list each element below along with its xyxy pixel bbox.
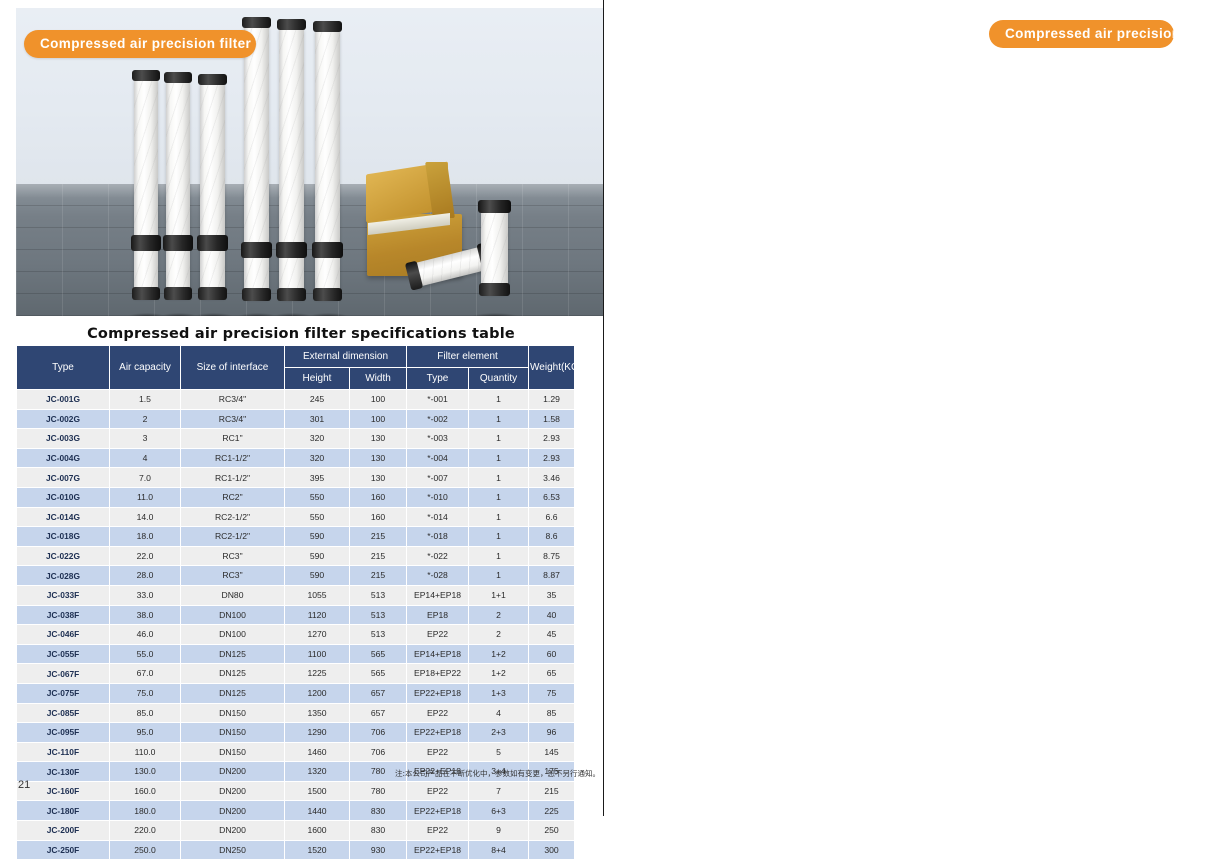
table-row: JC-075F75.0DN1251200657EP22+EP181+375 bbox=[17, 683, 575, 703]
table-cell: 160 bbox=[350, 487, 407, 507]
table-cell: 9 bbox=[469, 821, 529, 841]
table-cell: 145 bbox=[529, 742, 575, 762]
table-cell: 1270 bbox=[285, 625, 350, 645]
table-row: JC-003G3RC1"320130*-00312.93 bbox=[17, 429, 575, 449]
table-cell: *-002 bbox=[407, 409, 469, 429]
filter-cartridge bbox=[200, 83, 225, 297]
table-cell: EP22 bbox=[407, 625, 469, 645]
table-cell: DN100 bbox=[181, 625, 285, 645]
table-cell: EP22 bbox=[407, 821, 469, 841]
filter-cartridge bbox=[166, 81, 190, 297]
table-cell: 1100 bbox=[285, 644, 350, 664]
table-cell: EP22 bbox=[407, 703, 469, 723]
table-cell: 3 bbox=[110, 429, 181, 449]
table-row: JC-180F180.0DN2001440830EP22+EP186+3225 bbox=[17, 801, 575, 821]
table-cell: EP14+EP18 bbox=[407, 585, 469, 605]
specifications-table-body: JC-001G1.5RC3/4"245100*-00111.29JC-002G2… bbox=[17, 390, 575, 860]
table-cell: 85.0 bbox=[110, 703, 181, 723]
table-cell: 830 bbox=[350, 821, 407, 841]
table-row: JC-033F33.0DN801055513EP14+EP181+135 bbox=[17, 585, 575, 605]
table-cell: 1.58 bbox=[529, 409, 575, 429]
table-cell: JC-010G bbox=[17, 487, 110, 507]
table-cell: RC2-1/2" bbox=[181, 507, 285, 527]
table-cell: RC1" bbox=[181, 429, 285, 449]
table-cell: 590 bbox=[285, 566, 350, 586]
footnote-left: 注:本公司产品在不断优化中，参数如有变更，恕不另行通知。 bbox=[395, 768, 600, 779]
table-cell: 75 bbox=[529, 683, 575, 703]
table-cell: RC2-1/2" bbox=[181, 527, 285, 547]
table-cell: JC-002G bbox=[17, 409, 110, 429]
table-row: JC-110F110.0DN1501460706EP225145 bbox=[17, 742, 575, 762]
table-cell: JC-130F bbox=[17, 762, 110, 782]
table-cell: JC-075F bbox=[17, 683, 110, 703]
table-cell: 60 bbox=[529, 644, 575, 664]
table-cell: DN200 bbox=[181, 801, 285, 821]
table-cell: 930 bbox=[350, 840, 407, 860]
table-cell: 55.0 bbox=[110, 644, 181, 664]
table-cell: RC1-1/2" bbox=[181, 448, 285, 468]
filter-cartridge bbox=[244, 26, 269, 298]
table-cell: 95.0 bbox=[110, 723, 181, 743]
table-cell: 565 bbox=[350, 644, 407, 664]
table-cell: EP14+EP18 bbox=[407, 644, 469, 664]
table-cell: JC-200F bbox=[17, 821, 110, 841]
table-cell: JC-110F bbox=[17, 742, 110, 762]
table-cell: DN250 bbox=[181, 840, 285, 860]
table-cell: 22.0 bbox=[110, 546, 181, 566]
table-cell: 513 bbox=[350, 625, 407, 645]
table-cell: JC-014G bbox=[17, 507, 110, 527]
table-cell: 1600 bbox=[285, 821, 350, 841]
table-cell: EP22 bbox=[407, 781, 469, 801]
table-cell: 565 bbox=[350, 664, 407, 684]
table-row: JC-014G14.0RC2-1/2"550160*-01416.6 bbox=[17, 507, 575, 527]
table-cell: 395 bbox=[285, 468, 350, 488]
table-cell: 1.29 bbox=[529, 390, 575, 410]
table-cell: 35 bbox=[529, 585, 575, 605]
table-cell: JC-001G bbox=[17, 390, 110, 410]
table-cell: 250.0 bbox=[110, 840, 181, 860]
table-cell: JC-046F bbox=[17, 625, 110, 645]
table-cell: 38.0 bbox=[110, 605, 181, 625]
filter-cartridge bbox=[481, 211, 508, 293]
table-row: JC-038F38.0DN1001120513EP18240 bbox=[17, 605, 575, 625]
table-cell: 513 bbox=[350, 585, 407, 605]
hero-ground bbox=[16, 184, 603, 316]
col-height: Height bbox=[285, 368, 350, 390]
table-cell: DN150 bbox=[181, 742, 285, 762]
table-cell: 1 bbox=[469, 390, 529, 410]
table-cell: 67.0 bbox=[110, 664, 181, 684]
table-cell: DN80 bbox=[181, 585, 285, 605]
table-cell: EP22+EP18 bbox=[407, 723, 469, 743]
table-cell: DN100 bbox=[181, 605, 285, 625]
table-cell: 215 bbox=[529, 781, 575, 801]
table-cell: 1 bbox=[469, 429, 529, 449]
table-cell: JC-250F bbox=[17, 840, 110, 860]
table-cell: 6.53 bbox=[529, 487, 575, 507]
table-row: JC-095F95.0DN1501290706EP22+EP182+396 bbox=[17, 723, 575, 743]
specifications-table: Type Air capacity Size of interface Exte… bbox=[16, 345, 575, 860]
table-cell: 590 bbox=[285, 527, 350, 547]
col-element-type: Type bbox=[407, 368, 469, 390]
table-cell: 75.0 bbox=[110, 683, 181, 703]
table-cell: 215 bbox=[350, 566, 407, 586]
table-cell: 1460 bbox=[285, 742, 350, 762]
table-cell: 1200 bbox=[285, 683, 350, 703]
table-cell: 301 bbox=[285, 409, 350, 429]
table-row: JC-010G11.0RC2"550160*-01016.53 bbox=[17, 487, 575, 507]
table-cell: 45 bbox=[529, 625, 575, 645]
table-cell: 1+2 bbox=[469, 644, 529, 664]
table-cell: RC3/4" bbox=[181, 390, 285, 410]
table-cell: DN125 bbox=[181, 644, 285, 664]
table-cell: RC3" bbox=[181, 566, 285, 586]
table-cell: JC-055F bbox=[17, 644, 110, 664]
table-cell: EP18+EP22 bbox=[407, 664, 469, 684]
table-cell: 100 bbox=[350, 390, 407, 410]
table-cell: 245 bbox=[285, 390, 350, 410]
table-cell: *-018 bbox=[407, 527, 469, 547]
table-cell: 590 bbox=[285, 546, 350, 566]
table-cell: 1500 bbox=[285, 781, 350, 801]
table-row: JC-160F160.0DN2001500780EP227215 bbox=[17, 781, 575, 801]
page-right: Filtration grade Filter name Filter type… bbox=[603, 0, 1206, 816]
table-cell: *-022 bbox=[407, 546, 469, 566]
table-cell: 320 bbox=[285, 429, 350, 449]
table-cell: EP18 bbox=[407, 605, 469, 625]
table-cell: JC-038F bbox=[17, 605, 110, 625]
table-cell: 8.6 bbox=[529, 527, 575, 547]
table-row: JC-018G18.0RC2-1/2"590215*-01818.6 bbox=[17, 527, 575, 547]
col-quantity: Quantity bbox=[469, 368, 529, 390]
table-cell: JC-085F bbox=[17, 703, 110, 723]
page-number-left: 21 bbox=[18, 779, 30, 791]
table-cell: 4 bbox=[469, 703, 529, 723]
table-cell: *-028 bbox=[407, 566, 469, 586]
table-cell: 130 bbox=[350, 448, 407, 468]
table-cell: EP22 bbox=[407, 742, 469, 762]
table-cell: *-004 bbox=[407, 448, 469, 468]
table-cell: 110.0 bbox=[110, 742, 181, 762]
table-cell: DN200 bbox=[181, 821, 285, 841]
table-cell: JC-003G bbox=[17, 429, 110, 449]
table-row: JC-007G7.0RC1-1/2"395130*-00713.46 bbox=[17, 468, 575, 488]
table-cell: 550 bbox=[285, 487, 350, 507]
table-cell: 6+3 bbox=[469, 801, 529, 821]
table-row: JC-250F250.0DN2501520930EP22+EP188+4300 bbox=[17, 840, 575, 860]
table-cell: 1225 bbox=[285, 664, 350, 684]
table-cell: JC-004G bbox=[17, 448, 110, 468]
table-cell: 1520 bbox=[285, 840, 350, 860]
table-cell: JC-095F bbox=[17, 723, 110, 743]
table-cell: 1440 bbox=[285, 801, 350, 821]
table-cell: 1290 bbox=[285, 723, 350, 743]
table-cell: 7 bbox=[469, 781, 529, 801]
table-cell: 250 bbox=[529, 821, 575, 841]
table-cell: 706 bbox=[350, 742, 407, 762]
table-cell: 14.0 bbox=[110, 507, 181, 527]
table-cell: 1120 bbox=[285, 605, 350, 625]
table-cell: 1 bbox=[469, 566, 529, 586]
table-cell: JC-033F bbox=[17, 585, 110, 605]
cartridge-shadow bbox=[194, 313, 233, 316]
table-cell: *-010 bbox=[407, 487, 469, 507]
table-row: JC-028G28.0RC3"590215*-02818.87 bbox=[17, 566, 575, 586]
filter-cartridge bbox=[315, 30, 340, 298]
cartridge-shadow bbox=[273, 313, 312, 316]
table-cell: JC-160F bbox=[17, 781, 110, 801]
table-cell: 11.0 bbox=[110, 487, 181, 507]
table-cell: 550 bbox=[285, 507, 350, 527]
table-cell: 4 bbox=[110, 448, 181, 468]
catalog-spread: Compressed air precision filter Compress… bbox=[0, 0, 1206, 816]
table-cell: 1 bbox=[469, 546, 529, 566]
table-cell: RC3" bbox=[181, 546, 285, 566]
table-row: JC-001G1.5RC3/4"245100*-00111.29 bbox=[17, 390, 575, 410]
table-cell: 1 bbox=[469, 409, 529, 429]
cartridge-shadow bbox=[238, 313, 277, 316]
filter-cartridge bbox=[134, 79, 158, 297]
table-row: JC-002G2RC3/4"301100*-00211.58 bbox=[17, 409, 575, 429]
table-cell: JC-180F bbox=[17, 801, 110, 821]
table-row: JC-022G22.0RC3"590215*-02218.75 bbox=[17, 546, 575, 566]
table-cell: RC2" bbox=[181, 487, 285, 507]
specs-table-title: Compressed air precision filter specific… bbox=[16, 326, 586, 342]
table-cell: DN200 bbox=[181, 781, 285, 801]
cartridge-shadow bbox=[309, 313, 348, 316]
table-cell: 96 bbox=[529, 723, 575, 743]
table-cell: 85 bbox=[529, 703, 575, 723]
table-cell: JC-067F bbox=[17, 664, 110, 684]
col-width: Width bbox=[350, 368, 407, 390]
table-row: JC-046F46.0DN1001270513EP22245 bbox=[17, 625, 575, 645]
table-cell: 1055 bbox=[285, 585, 350, 605]
table-cell: 2 bbox=[469, 625, 529, 645]
table-cell: 40 bbox=[529, 605, 575, 625]
table-cell: 160 bbox=[350, 507, 407, 527]
table-cell: 33.0 bbox=[110, 585, 181, 605]
col-type: Type bbox=[17, 346, 110, 390]
table-cell: RC1-1/2" bbox=[181, 468, 285, 488]
table-cell: 1350 bbox=[285, 703, 350, 723]
table-row: JC-067F67.0DN1251225565EP18+EP221+265 bbox=[17, 664, 575, 684]
table-cell: JC-007G bbox=[17, 468, 110, 488]
table-cell: 657 bbox=[350, 703, 407, 723]
table-cell: 780 bbox=[350, 781, 407, 801]
table-cell: 100 bbox=[350, 409, 407, 429]
table-cell: EP22+EP18 bbox=[407, 683, 469, 703]
table-cell: 1+2 bbox=[469, 664, 529, 684]
table-cell: RC3/4" bbox=[181, 409, 285, 429]
table-cell: 65 bbox=[529, 664, 575, 684]
table-cell: 2.93 bbox=[529, 448, 575, 468]
table-cell: 2 bbox=[469, 605, 529, 625]
table-cell: *-007 bbox=[407, 468, 469, 488]
table-cell: 2.93 bbox=[529, 429, 575, 449]
table-cell: JC-022G bbox=[17, 546, 110, 566]
table-row: JC-200F220.0DN2001600830EP229250 bbox=[17, 821, 575, 841]
table-cell: 657 bbox=[350, 683, 407, 703]
table-cell: DN150 bbox=[181, 723, 285, 743]
table-cell: 6.6 bbox=[529, 507, 575, 527]
table-cell: 28.0 bbox=[110, 566, 181, 586]
table-cell: 180.0 bbox=[110, 801, 181, 821]
table-cell: *-014 bbox=[407, 507, 469, 527]
table-cell: JC-028G bbox=[17, 566, 110, 586]
col-weight: Weight(KG) bbox=[529, 346, 575, 390]
table-cell: 513 bbox=[350, 605, 407, 625]
col-external-dimension: External dimension bbox=[285, 346, 407, 368]
specs-header-row-1: Type Air capacity Size of interface Exte… bbox=[17, 346, 575, 368]
cartridge-shadow bbox=[472, 313, 518, 316]
table-cell: DN125 bbox=[181, 664, 285, 684]
table-cell: 1320 bbox=[285, 762, 350, 782]
table-cell: 8+4 bbox=[469, 840, 529, 860]
table-cell: 1 bbox=[469, 487, 529, 507]
table-cell: EP22+EP18 bbox=[407, 801, 469, 821]
table-cell: 1 bbox=[469, 507, 529, 527]
table-cell: 706 bbox=[350, 723, 407, 743]
col-air-capacity: Air capacity bbox=[110, 346, 181, 390]
cartridge-shadow bbox=[160, 313, 198, 316]
table-cell: 8.87 bbox=[529, 566, 575, 586]
table-cell: 215 bbox=[350, 546, 407, 566]
table-cell: 3.46 bbox=[529, 468, 575, 488]
table-cell: 225 bbox=[529, 801, 575, 821]
table-cell: 46.0 bbox=[110, 625, 181, 645]
page-left: Compressed air precision filter Compress… bbox=[0, 0, 603, 816]
table-cell: 8.75 bbox=[529, 546, 575, 566]
col-filter-element: Filter element bbox=[407, 346, 529, 368]
table-cell: DN150 bbox=[181, 703, 285, 723]
table-cell: 1.5 bbox=[110, 390, 181, 410]
table-cell: 7.0 bbox=[110, 468, 181, 488]
table-cell: 1 bbox=[469, 468, 529, 488]
product-hero-image: Compressed air precision filter bbox=[16, 8, 603, 316]
table-cell: 300 bbox=[529, 840, 575, 860]
table-cell: 18.0 bbox=[110, 527, 181, 547]
table-cell: 1+1 bbox=[469, 585, 529, 605]
table-cell: 220.0 bbox=[110, 821, 181, 841]
table-cell: JC-018G bbox=[17, 527, 110, 547]
table-cell: 130 bbox=[350, 429, 407, 449]
table-cell: 215 bbox=[350, 527, 407, 547]
table-cell: 2+3 bbox=[469, 723, 529, 743]
table-cell: *-001 bbox=[407, 390, 469, 410]
table-cell: 1 bbox=[469, 448, 529, 468]
table-row: JC-085F85.0DN1501350657EP22485 bbox=[17, 703, 575, 723]
table-cell: 1+3 bbox=[469, 683, 529, 703]
table-cell: DN125 bbox=[181, 683, 285, 703]
table-cell: 320 bbox=[285, 448, 350, 468]
hero-badge-label: Compressed air precision filter bbox=[24, 30, 256, 58]
table-cell: 160.0 bbox=[110, 781, 181, 801]
col-size-of-interface: Size of interface bbox=[181, 346, 285, 390]
table-cell: *-003 bbox=[407, 429, 469, 449]
table-cell: DN200 bbox=[181, 762, 285, 782]
table-cell: 830 bbox=[350, 801, 407, 821]
table-cell: 5 bbox=[469, 742, 529, 762]
table-cell: 130 bbox=[350, 468, 407, 488]
table-row: JC-004G4RC1-1/2"320130*-00412.93 bbox=[17, 448, 575, 468]
table-row: JC-055F55.0DN1251100565EP14+EP181+260 bbox=[17, 644, 575, 664]
table-cell: 130.0 bbox=[110, 762, 181, 782]
filter-cartridge bbox=[279, 28, 304, 298]
table-cell: EP22+EP18 bbox=[407, 840, 469, 860]
table-cell: 2 bbox=[110, 409, 181, 429]
page-badge-right: Compressed air precision filter bbox=[989, 20, 1174, 48]
table-cell: 1 bbox=[469, 527, 529, 547]
